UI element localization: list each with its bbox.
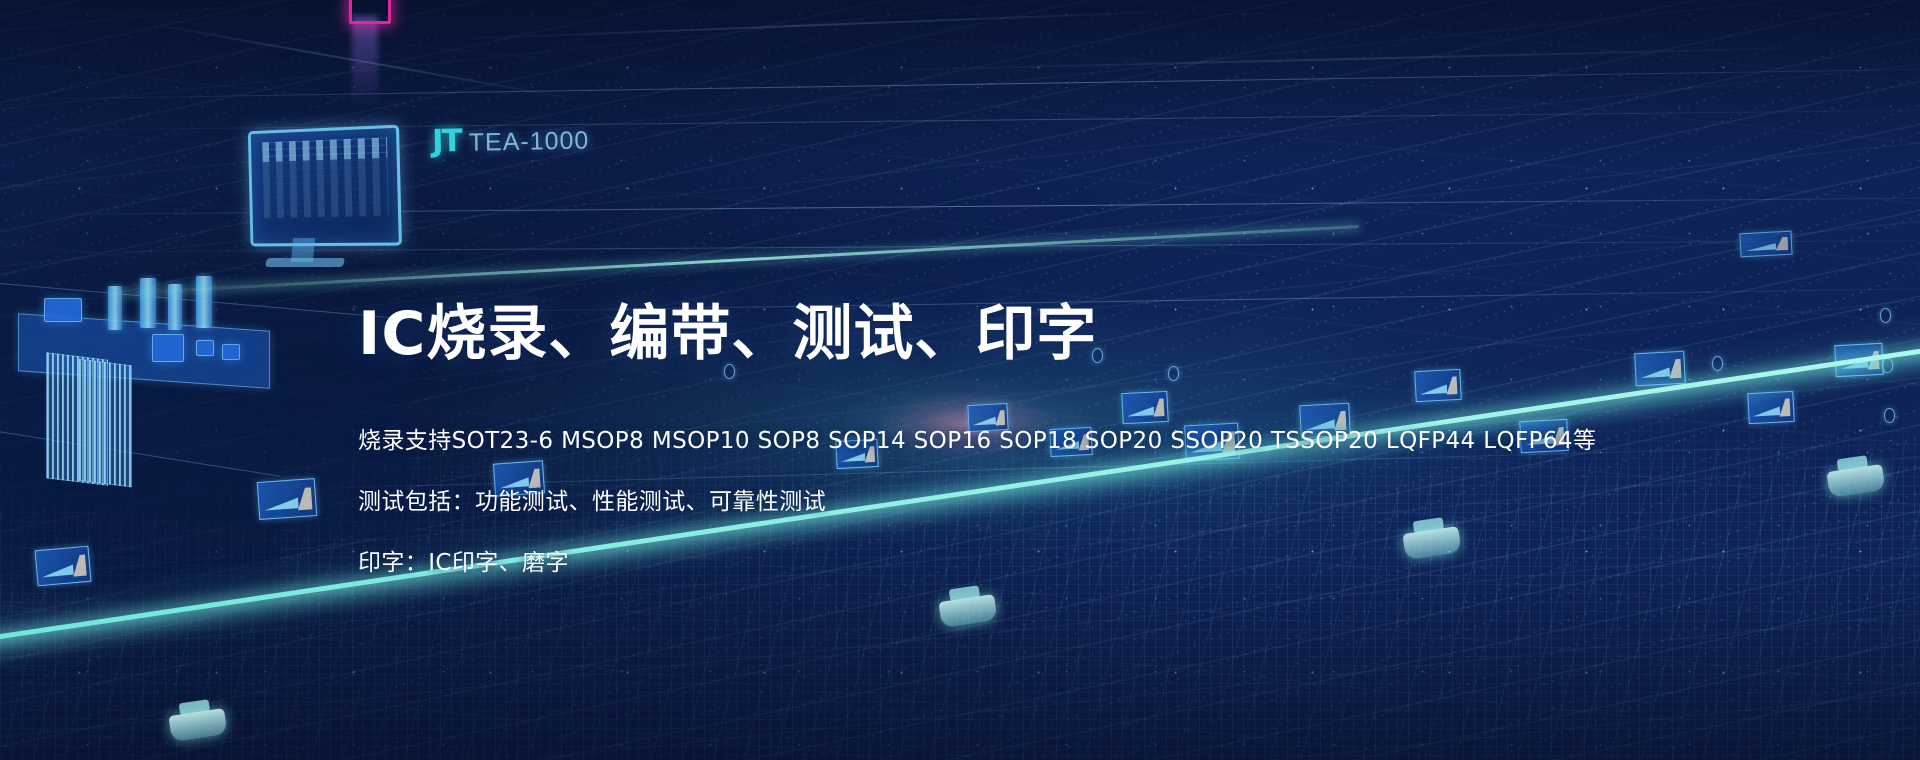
rail-carriage: [168, 708, 227, 742]
marking-scope-line: 印字：IC印字、磨字: [358, 543, 1658, 577]
sign-light-beam: [352, 16, 378, 108]
machine-logo-brand: JT: [432, 123, 461, 160]
control-monitor: [248, 125, 402, 247]
rail-carriage: [938, 594, 997, 628]
machine-logo-model: TEA-1000: [468, 126, 589, 157]
monitor-screen-content: [262, 137, 389, 217]
banner-headline: IC烧录、编带、测试、印字: [358, 300, 1658, 369]
ic-service-banner: JT TEA-1000 IC烧录、编带、测试: [0, 0, 1920, 760]
magenta-overhead-sign: [349, 0, 391, 24]
monitor-base: [265, 258, 345, 267]
burn-support-line: 烧录支持SOT23-6 MSOP8 MSOP10 SOP8 SOP14 SOP1…: [358, 421, 1658, 455]
machine-logo: JT TEA-1000: [432, 120, 590, 159]
banner-text-block: IC烧录、编带、测试、印字 烧录支持SOT23-6 MSOP8 MSOP10 S…: [358, 300, 1658, 577]
test-scope-line: 测试包括：功能测试、性能测试、可靠性测试: [358, 482, 1658, 516]
rail-carriage: [1826, 464, 1885, 498]
